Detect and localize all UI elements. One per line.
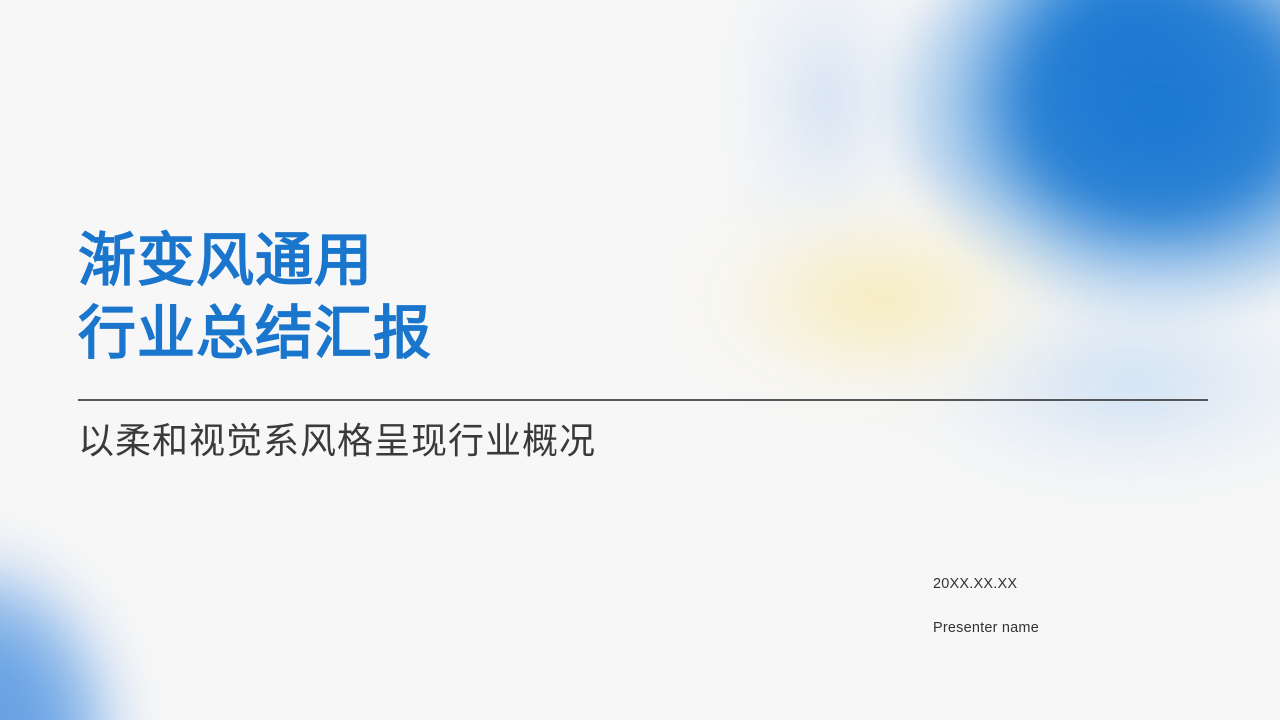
title-line-2: 行业总结汇报 xyxy=(78,297,432,370)
title-line-1: 渐变风通用 xyxy=(78,224,432,297)
slide-meta: 20XX.XX.XX Presenter name xyxy=(933,576,1208,638)
title-slide: 渐变风通用 行业总结汇报 以柔和视觉系风格呈现行业概况 20XX.XX.XX P… xyxy=(0,0,1280,720)
presenter-name: Presenter name xyxy=(933,620,1208,637)
slide-subtitle: 以柔和视觉系风格呈现行业概况 xyxy=(78,418,596,465)
presentation-date: 20XX.XX.XX xyxy=(933,576,1208,593)
slide-content: 渐变风通用 行业总结汇报 以柔和视觉系风格呈现行业概况 20XX.XX.XX P… xyxy=(78,0,1208,720)
slide-title: 渐变风通用 行业总结汇报 xyxy=(78,224,432,370)
title-divider-rule xyxy=(78,399,1208,401)
